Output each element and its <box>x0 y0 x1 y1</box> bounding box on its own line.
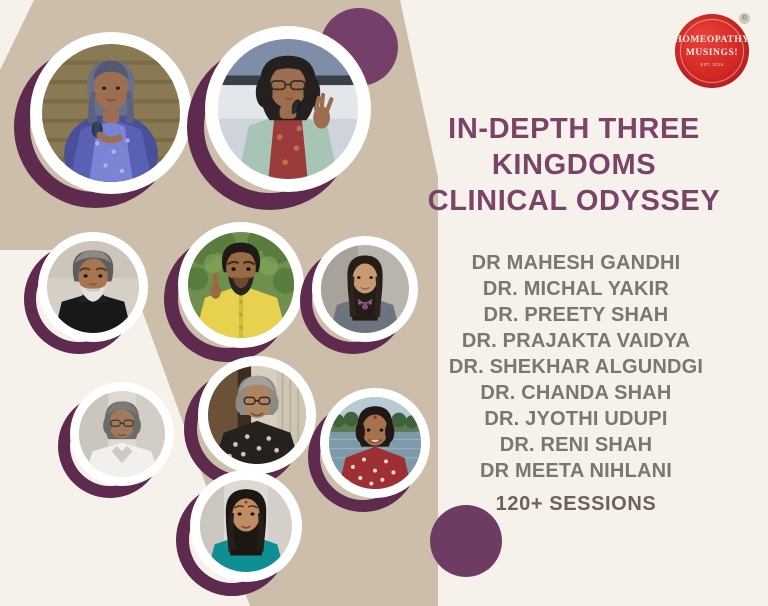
photo-image-9 <box>200 480 292 572</box>
sessions-count-label: 120+ SESSIONS <box>396 493 756 516</box>
webinar-poster: IN-DEPTH THREE KINGDOMS CLINICAL ODYSSEY… <box>0 0 768 606</box>
speaker-name: DR. PREETY SHAH <box>396 302 756 328</box>
speaker-photo-1 <box>30 32 192 194</box>
speaker-name: DR. RENI SHAH <box>396 432 756 458</box>
logo-tagline: EST. 2016 <box>701 62 724 68</box>
speaker-name: DR MEETA NIHLANI <box>396 458 756 484</box>
speaker-name: DR. MICHAL YAKIR <box>396 276 756 302</box>
brand-logo: HOMEOPATHY MUSINGS! EST. 2016 ® <box>673 12 751 90</box>
speaker-photo-9 <box>190 470 302 582</box>
logo-line-1: HOMEOPATHY <box>674 34 749 47</box>
photo-image-6 <box>79 391 165 477</box>
speaker-name: DR. SHEKHAR ALGUNDGI <box>396 354 756 380</box>
photo-image-7 <box>208 366 306 464</box>
page-title: IN-DEPTH THREE KINGDOMS CLINICAL ODYSSEY <box>396 112 752 220</box>
portrait-illustration-6 <box>79 391 165 477</box>
portrait-illustration-2 <box>218 39 358 179</box>
speaker-name-list: DR MAHESH GANDHI DR. MICHAL YAKIR DR. PR… <box>396 250 756 484</box>
speaker-photo-4 <box>178 222 304 348</box>
title-line-2: KINGDOMS <box>396 148 752 184</box>
speaker-photo-3 <box>38 232 148 342</box>
photo-image-2 <box>218 39 358 179</box>
registered-trademark-icon: ® <box>739 13 750 24</box>
speaker-name: DR. PRAJAKTA VAIDYA <box>396 328 756 354</box>
speaker-name: DR. JYOTHI UDUPI <box>396 406 756 432</box>
photo-image-1 <box>42 44 180 182</box>
portrait-illustration-3 <box>47 241 139 333</box>
speaker-photo-6 <box>70 382 174 486</box>
logo-line-2: MUSINGS! <box>686 47 738 60</box>
portrait-illustration-9 <box>200 480 292 572</box>
logo-text: HOMEOPATHY MUSINGS! EST. 2016 <box>673 12 751 90</box>
portrait-illustration-4 <box>188 232 294 338</box>
speaker-name: DR. CHANDA SHAH <box>396 380 756 406</box>
photo-image-3 <box>47 241 139 333</box>
speaker-photo-7 <box>198 356 316 474</box>
portrait-illustration-7 <box>208 366 306 464</box>
speaker-name: DR MAHESH GANDHI <box>396 250 756 276</box>
photo-image-4 <box>188 232 294 338</box>
title-line-3: CLINICAL ODYSSEY <box>396 184 752 220</box>
title-line-1: IN-DEPTH THREE <box>396 112 752 148</box>
portrait-illustration-1 <box>42 44 180 182</box>
speaker-photo-2 <box>205 26 371 192</box>
